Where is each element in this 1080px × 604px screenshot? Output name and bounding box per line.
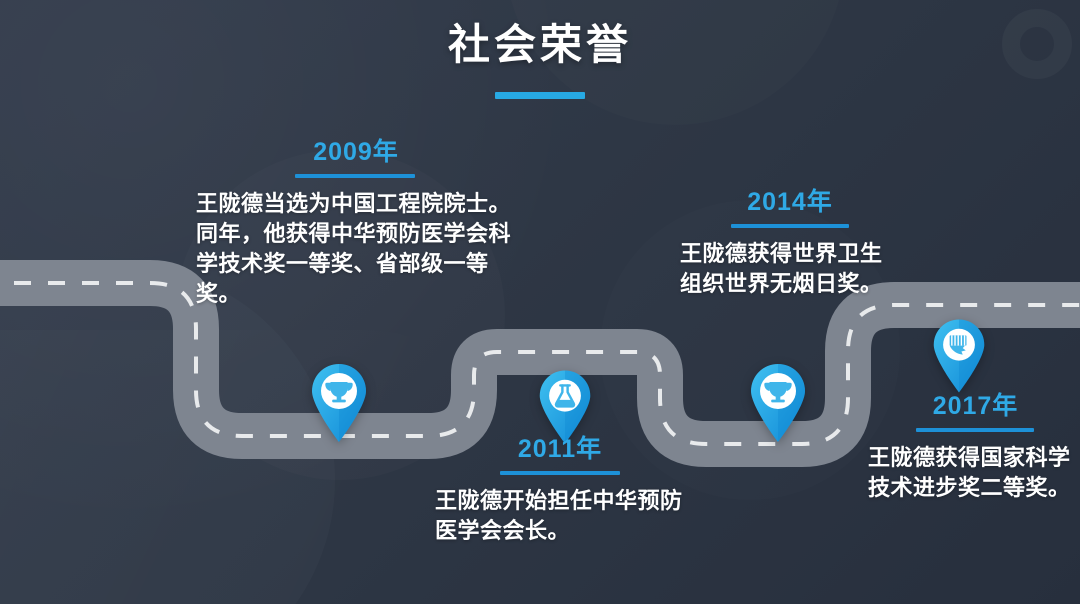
milestone-year-underline-2009 — [295, 174, 415, 178]
certificate-icon — [930, 316, 988, 394]
milestone-year-underline-2017 — [916, 428, 1034, 432]
trophy-icon — [308, 361, 370, 443]
milestone-description-2014: 王陇德获得世界卫生组织世界无烟日奖。 — [680, 239, 900, 299]
milestone-year-2011: 2011年 — [435, 437, 685, 462]
milestone-year-underline-2014 — [731, 224, 849, 228]
milestone-pin-2014[interactable] — [747, 361, 809, 443]
milestone-pin-2011[interactable] — [536, 367, 594, 445]
milestone-block-2009: 2009年 王陇德当选为中国工程院院士。同年，他获得中华预防医学会科学技术奖一等… — [196, 140, 516, 309]
flask-icon — [536, 367, 594, 445]
milestone-year-2017: 2017年 — [868, 394, 1080, 419]
milestone-description-2009: 王陇德当选为中国工程院院士。同年，他获得中华预防医学会科学技术奖一等奖、省部级一… — [196, 189, 516, 309]
milestone-pin-2009[interactable] — [308, 361, 370, 443]
milestone-block-2011: 2011年 王陇德开始担任中华预防医学会会长。 — [435, 437, 685, 546]
milestone-description-2017: 王陇德获得国家科学技术进步奖二等奖。 — [868, 443, 1080, 503]
slide-canvas: 社会荣誉 — [0, 0, 1080, 604]
trophy-icon — [747, 361, 809, 443]
milestone-block-2014: 2014年 王陇德获得世界卫生组织世界无烟日奖。 — [680, 190, 900, 299]
milestone-year-underline-2011 — [500, 471, 620, 475]
milestone-pin-2017[interactable] — [930, 316, 988, 394]
milestone-year-2009: 2009年 — [196, 140, 516, 165]
milestone-year-2014: 2014年 — [680, 190, 900, 215]
milestone-description-2011: 王陇德开始担任中华预防医学会会长。 — [435, 486, 685, 546]
milestone-block-2017: 2017年 王陇德获得国家科学技术进步奖二等奖。 — [868, 394, 1080, 503]
